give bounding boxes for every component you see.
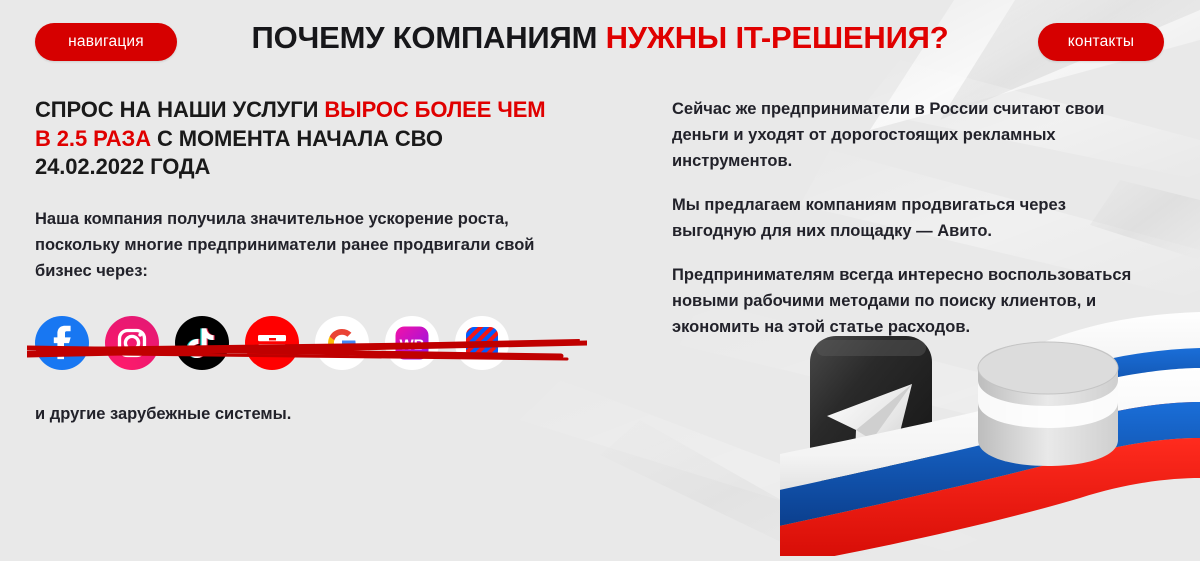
decorative-artwork <box>780 306 1200 556</box>
page-header: навигация ПОЧЕМУ КОМПАНИЯМ НУЖНЫ IT-РЕШЕ… <box>0 0 1200 78</box>
instagram-icon <box>105 316 159 370</box>
left-footnote: и другие зарубежные системы. <box>35 405 291 424</box>
right-paragraph-2: Мы предлагаем компаниям продвигаться чер… <box>672 192 1132 244</box>
left-column: СПРОС НА НАШИ УСЛУГИ ВЫРОС БОЛЕЕ ЧЕМ В 2… <box>35 96 555 284</box>
russian-flag-ribbon <box>780 342 1200 556</box>
tiktok-icon <box>175 316 229 370</box>
svg-text:ozon: ozon <box>467 336 497 351</box>
contacts-button[interactable]: контакты <box>1038 23 1164 61</box>
telegram-icon <box>810 336 932 486</box>
google-icon <box>315 316 369 370</box>
blocked-platforms-row: WB ozon <box>35 312 555 382</box>
ozon-icon: ozon <box>455 316 509 370</box>
facebook-icon <box>35 316 89 370</box>
left-paragraph: Наша компания получила значительное уско… <box>35 206 555 284</box>
ribbon-roll <box>978 342 1118 466</box>
page-title: ПОЧЕМУ КОМПАНИЯМ НУЖНЫ IT-РЕШЕНИЯ? <box>0 20 1200 56</box>
left-heading: СПРОС НА НАШИ УСЛУГИ ВЫРОС БОЛЕЕ ЧЕМ В 2… <box>35 96 555 182</box>
page-title-black: ПОЧЕМУ КОМПАНИЯМ <box>252 20 598 55</box>
right-paragraph-3: Предпринимателям всегда интересно воспол… <box>672 262 1132 340</box>
svg-text:WB: WB <box>400 337 425 354</box>
youtube-icon <box>245 316 299 370</box>
right-column: Сейчас же предприниматели в России счита… <box>672 96 1132 341</box>
wildberries-icon: WB <box>385 316 439 370</box>
page-title-red: НУЖНЫ IT-РЕШЕНИЯ? <box>606 20 949 55</box>
left-heading-part1: СПРОС НА НАШИ УСЛУГИ <box>35 97 324 122</box>
right-paragraph-1: Сейчас же предприниматели в России счита… <box>672 96 1132 174</box>
